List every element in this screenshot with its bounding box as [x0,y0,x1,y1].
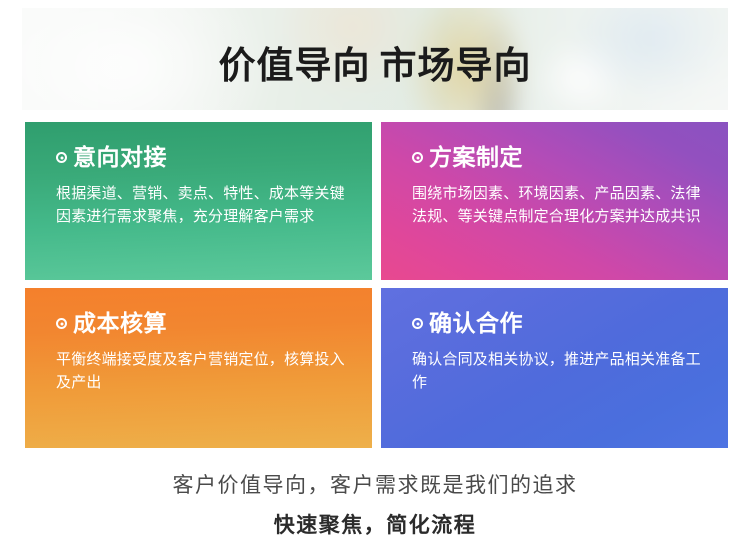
card-description: 围绕市场因素、环境因素、产品因素、法律法规、等关键点制定合理化方案并达成共识 [412,182,702,229]
banner-title: 价值导向市场导向 [22,35,728,89]
card-description: 确认合同及相关协议，推进产品相关准备工作 [412,348,702,395]
target-dot-icon [56,152,67,163]
card-title-text: 意向对接 [73,146,167,169]
banner-title-part2: 市场导向 [380,45,532,86]
card-confirm-cooperation[interactable]: 确认合作 确认合同及相关协议，推进产品相关准备工作 [381,288,728,448]
card-plan-formulation[interactable]: 方案制定 围绕市场因素、环境因素、产品因素、法律法规、等关键点制定合理化方案并达… [381,122,728,280]
target-dot-icon [412,152,423,163]
feature-cards-grid: 意向对接 根据渠道、营销、卖点、特性、成本等关键因素进行需求聚焦，充分理解客户需… [25,122,728,448]
card-title-row: 成本核算 [56,312,346,335]
target-dot-icon [56,318,67,329]
card-title-row: 方案制定 [412,146,702,169]
hero-banner: 价值导向市场导向 [22,8,728,110]
card-title-row: 确认合作 [412,312,702,335]
footer-line-primary: 客户价值导向，客户需求既是我们的追求 [0,472,750,500]
card-title-text: 方案制定 [429,146,523,169]
card-description: 平衡终端接受度及客户营销定位，核算投入及产出 [56,348,346,395]
card-title-text: 成本核算 [73,312,167,335]
card-title-text: 确认合作 [429,312,523,335]
card-cost-accounting[interactable]: 成本核算 平衡终端接受度及客户营销定位，核算投入及产出 [25,288,372,448]
card-title-row: 意向对接 [56,146,346,169]
promo-page: 价值导向市场导向 意向对接 根据渠道、营销、卖点、特性、成本等关键因素进行需求聚… [0,0,750,556]
target-dot-icon [412,318,423,329]
footer-slogan: 客户价值导向，客户需求既是我们的追求 快速聚焦，简化流程 [0,472,750,541]
card-description: 根据渠道、营销、卖点、特性、成本等关键因素进行需求聚焦，充分理解客户需求 [56,182,346,229]
footer-line-secondary: 快速聚焦，简化流程 [0,512,750,540]
banner-title-part1: 价值导向 [219,45,371,86]
card-intent-docking[interactable]: 意向对接 根据渠道、营销、卖点、特性、成本等关键因素进行需求聚焦，充分理解客户需… [25,122,372,280]
